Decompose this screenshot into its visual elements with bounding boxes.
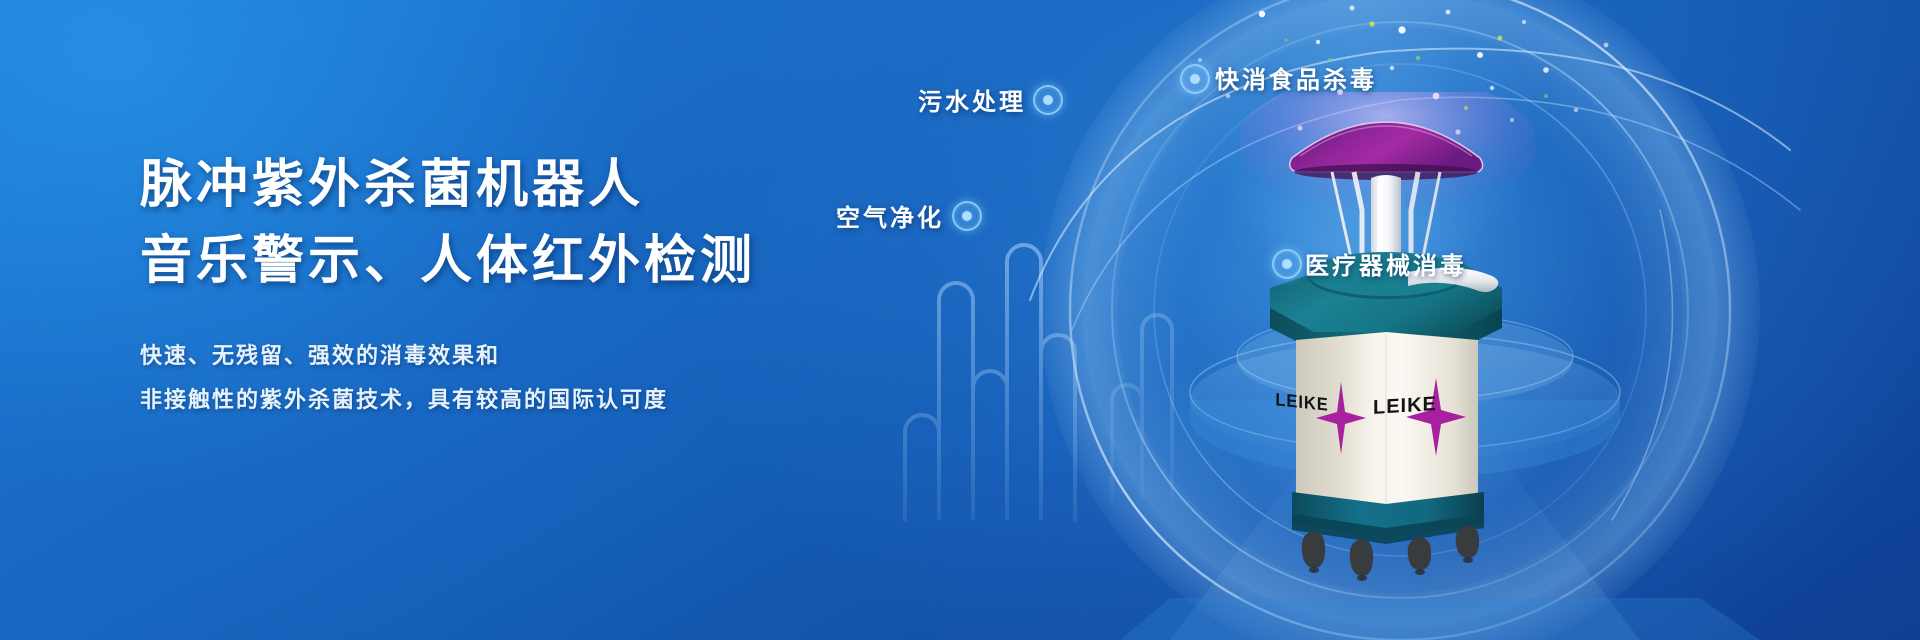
feature-node-icon-wastewater bbox=[1033, 85, 1063, 115]
feature-label-medical[interactable]: 医疗器械消毒 bbox=[1305, 246, 1467, 281]
uv-disinfection-robot: LEIKE LEIKE bbox=[1240, 92, 1620, 582]
feature-label-wastewater[interactable]: 污水处理 bbox=[918, 82, 1026, 117]
feature-label-food[interactable]: 快消食品杀毒 bbox=[1215, 60, 1377, 95]
headline-line-2: 音乐警示、人体红外检测 bbox=[140, 224, 900, 300]
waveform-graphic bbox=[905, 245, 1172, 520]
subcopy-line-1: 快速、无残留、强效的消毒效果和 bbox=[140, 334, 900, 378]
hero-banner: LEIKE LEIKE 脉冲紫外杀菌机器人 音乐警示、人体红外检测 快速、无残留… bbox=[0, 0, 1920, 640]
feature-label-air[interactable]: 空气净化 bbox=[836, 198, 944, 233]
subcopy-line-2: 非接触性的紫外杀菌技术，具有较高的国际认可度 bbox=[140, 378, 900, 422]
headline-line-1: 脉冲紫外杀菌机器人 bbox=[140, 148, 900, 224]
feature-node-icon-air bbox=[952, 201, 982, 231]
robot-illustration bbox=[1240, 92, 1620, 582]
hero-subcopy: 快速、无残留、强效的消毒效果和 非接触性的紫外杀菌技术，具有较高的国际认可度 bbox=[140, 334, 900, 422]
hero-copy: 脉冲紫外杀菌机器人 音乐警示、人体红外检测 快速、无残留、强效的消毒效果和 非接… bbox=[140, 148, 900, 422]
device-brand-label-right: LEIKE bbox=[1373, 393, 1437, 420]
feature-node-icon-medical bbox=[1272, 249, 1302, 279]
feature-node-icon-food bbox=[1180, 64, 1210, 94]
